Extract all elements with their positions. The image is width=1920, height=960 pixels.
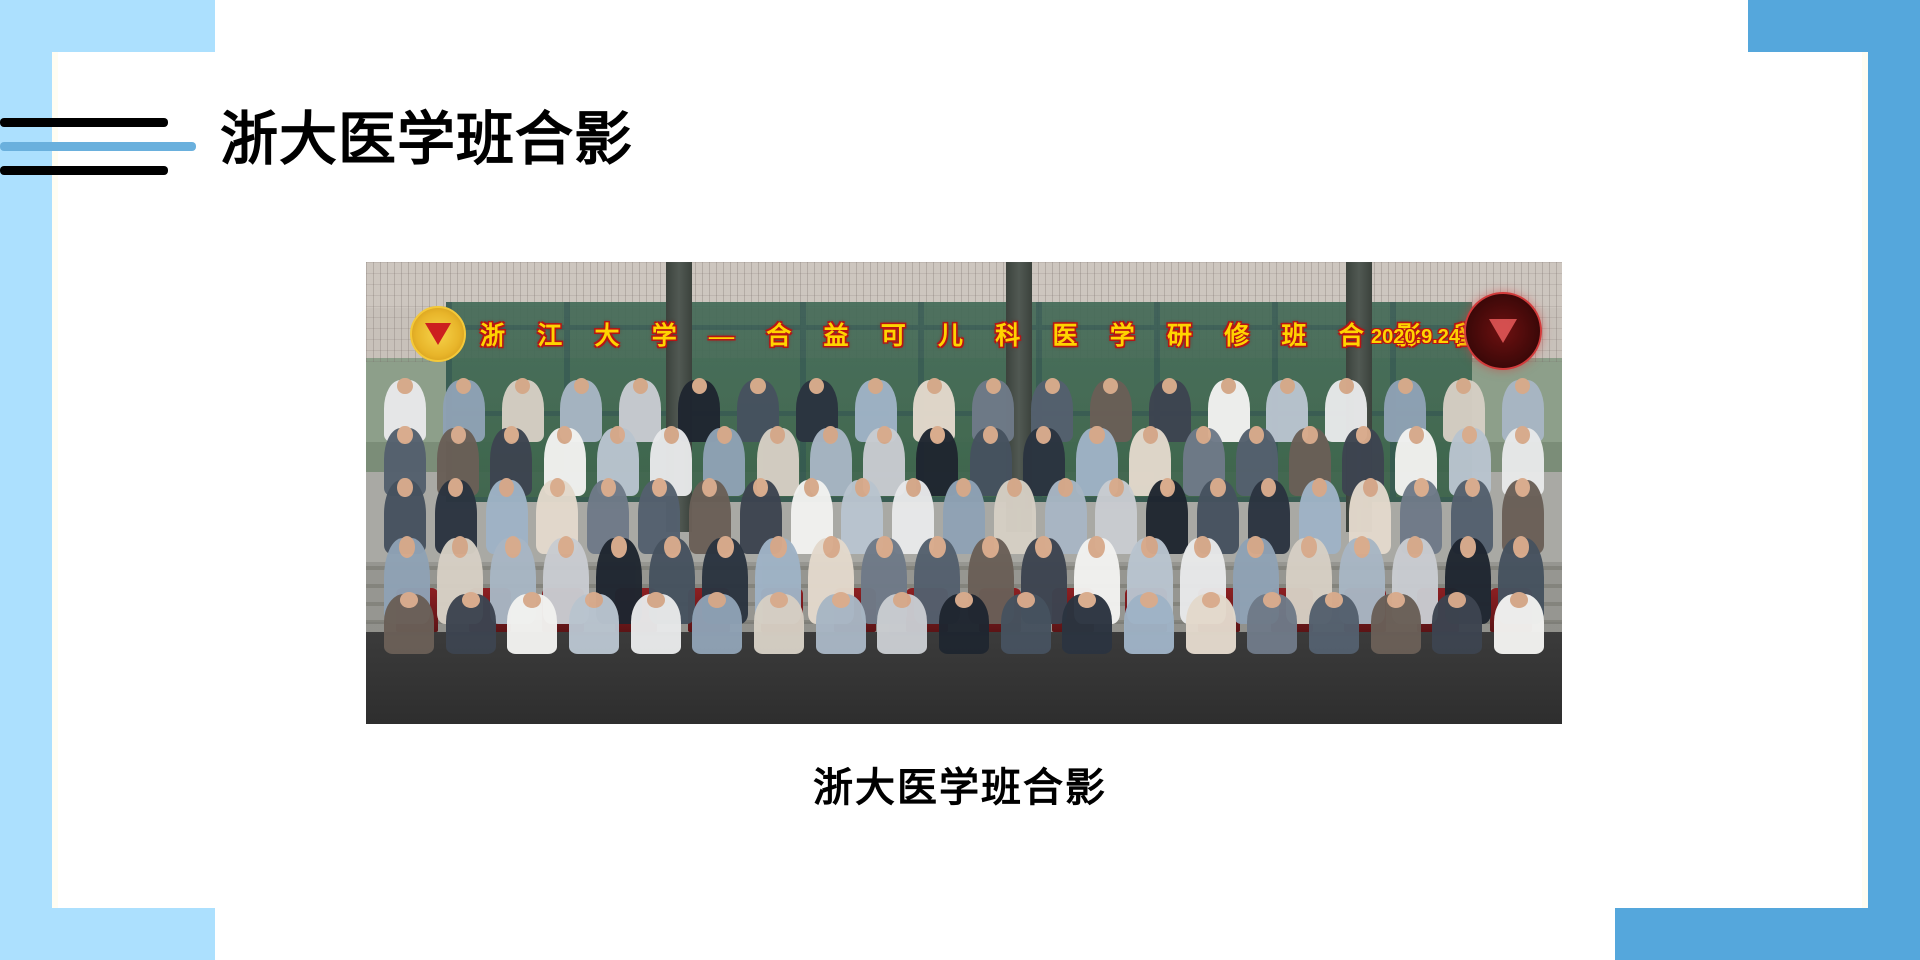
corner-accent-top-right xyxy=(1748,0,1920,52)
corner-accent-bottom-right xyxy=(1615,908,1920,960)
photo-person xyxy=(1124,594,1174,654)
photo-person xyxy=(1247,594,1297,654)
accent-line-top xyxy=(0,118,168,127)
page-title: 浙大医学班合影 xyxy=(220,108,633,172)
photo-person xyxy=(939,594,989,654)
photo-crowd xyxy=(384,380,1544,650)
right-edge-bar xyxy=(1868,0,1920,960)
university-emblem-icon xyxy=(410,306,466,362)
seal-mark-icon xyxy=(1489,319,1517,343)
photo-person xyxy=(816,594,866,654)
photo-person xyxy=(446,594,496,654)
photo-person xyxy=(877,594,927,654)
photo-person xyxy=(1432,594,1482,654)
title-accent-lines xyxy=(0,118,172,180)
photo-person xyxy=(384,594,434,654)
photo-person xyxy=(1309,594,1359,654)
photo-person xyxy=(1186,594,1236,654)
photo-person xyxy=(1494,594,1544,654)
group-photo: 浙 江 大 学 — 合 益 可 儿 科 医 学 研 修 班 合 影 留 念 20… xyxy=(366,262,1562,724)
neon-seal-icon xyxy=(1464,292,1542,370)
corner-accent-bottom-left xyxy=(0,908,215,960)
photo-person xyxy=(507,594,557,654)
emblem-mark-icon xyxy=(425,323,451,345)
photo-date-label: 2020.9.24 xyxy=(1371,326,1460,349)
accent-line-middle xyxy=(0,142,196,151)
photo-person xyxy=(1001,594,1051,654)
photo-caption: 浙大医学班合影 xyxy=(0,755,1920,813)
photo-person xyxy=(754,594,804,654)
photo-person xyxy=(569,594,619,654)
photo-crowd-row xyxy=(384,594,1544,654)
accent-line-bottom xyxy=(0,166,168,175)
photo-person xyxy=(692,594,742,654)
photo-person xyxy=(631,594,681,654)
photo-person xyxy=(1062,594,1112,654)
photo-banner: 浙 江 大 学 — 合 益 可 儿 科 医 学 研 修 班 合 影 留 念 xyxy=(410,306,1522,362)
slide-canvas: 浙大医学班合影 浙 江 大 学 — 合 益 可 儿 科 医 学 研 修 班 合 … xyxy=(0,0,1920,960)
corner-accent-top-left xyxy=(0,0,215,52)
photo-person xyxy=(1371,594,1421,654)
